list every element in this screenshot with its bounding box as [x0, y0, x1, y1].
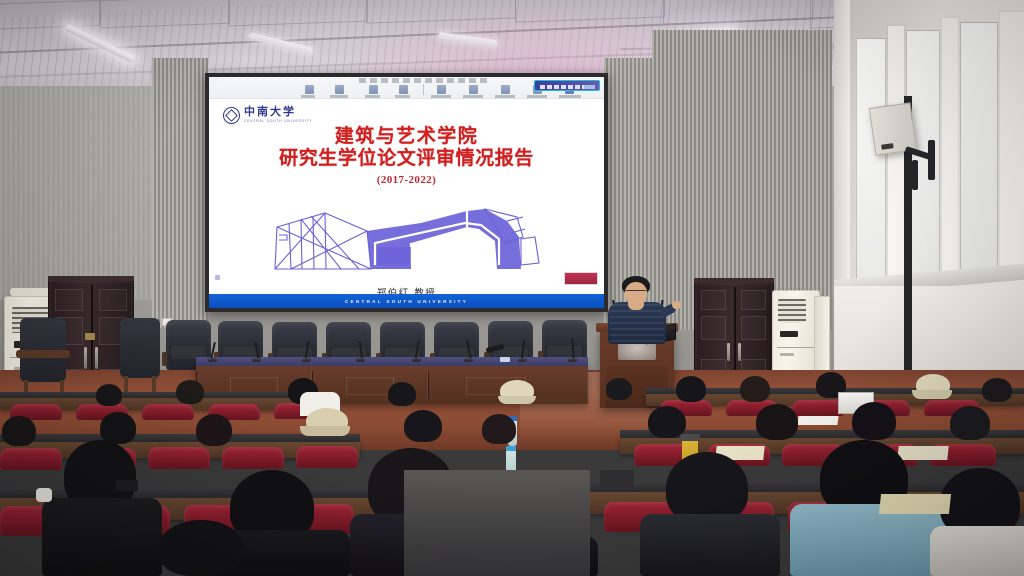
microphone-base — [252, 358, 261, 362]
presenter-hand — [672, 301, 681, 309]
door-center-split — [734, 287, 736, 383]
audience-notebook — [879, 494, 951, 514]
microphone-base — [568, 358, 577, 362]
toolbar-label — [431, 95, 451, 98]
banner-text-placeholder — [540, 85, 584, 89]
audience-person-foreground — [140, 520, 270, 576]
toolbar-label — [301, 95, 315, 98]
insert-icon[interactable] — [369, 85, 378, 94]
audience-head — [404, 410, 442, 442]
person-torso-light-blue — [790, 504, 950, 576]
cup-lid — [680, 434, 700, 441]
door-header-left — [48, 276, 134, 281]
desk-surface — [0, 392, 330, 398]
desk-paper — [500, 357, 510, 362]
window-mullion — [888, 26, 904, 288]
panel-table-ornament — [346, 377, 394, 395]
align-icon[interactable] — [437, 85, 446, 94]
powerpoint-toolbar[interactable] — [209, 77, 604, 99]
audience-head — [96, 384, 122, 406]
transition-icon[interactable] — [501, 85, 510, 94]
audience-seat — [296, 446, 358, 468]
window-mullion — [1000, 12, 1024, 274]
logo-chinese-name: 中南大学 — [244, 107, 312, 118]
door-panel — [741, 290, 766, 310]
aisle-shadow — [404, 470, 590, 576]
microphone-base — [302, 358, 311, 362]
door-handle[interactable] — [738, 343, 741, 361]
right-wall — [834, 0, 1024, 420]
shape-icon[interactable] — [399, 85, 408, 94]
architecture-building-illustration — [271, 207, 543, 275]
lecture-hall-scene: 中南大学 CENTRAL SOUTH UNIVERSITY 建筑与艺术学院 研究… — [0, 0, 1024, 576]
ac-display-panel — [780, 331, 798, 337]
paragraph-icon[interactable] — [335, 85, 344, 94]
cap-brim — [300, 426, 350, 436]
window-mullion — [942, 18, 958, 280]
font-icon[interactable] — [305, 85, 314, 94]
microphone-base — [412, 358, 421, 362]
picture-icon[interactable] — [469, 85, 478, 94]
slide-title-block: 建筑与艺术学院 研究生学位论文评审情况报告 (2017-2022) — [209, 125, 604, 186]
door-panel — [701, 290, 726, 310]
audience-head — [756, 404, 798, 440]
slide-date-range: (2017-2022) — [209, 174, 604, 186]
audience-seat — [142, 404, 194, 420]
slide-title-line1: 建筑与艺术学院 — [209, 125, 604, 147]
presenter-glasses — [626, 290, 646, 294]
projected-slide: 中南大学 CENTRAL SOUTH UNIVERSITY 建筑与艺术学院 研究… — [209, 77, 604, 308]
chair-arm — [162, 352, 167, 366]
door-handle[interactable] — [727, 343, 730, 361]
speaker-bracket-stem — [912, 160, 918, 190]
window — [960, 22, 998, 272]
audience-head — [950, 406, 990, 440]
audience-head — [196, 414, 232, 446]
audience-head — [2, 416, 36, 446]
slide-canvas: 中南大学 CENTRAL SOUTH UNIVERSITY 建筑与艺术学院 研究… — [209, 99, 604, 308]
door-handle[interactable] — [95, 347, 98, 369]
door-header-right — [694, 278, 774, 283]
cap-brim — [912, 390, 952, 399]
acoustic-slat-panel-left — [152, 58, 208, 328]
footer-band-text: CENTRAL SOUTH UNIVERSITY — [345, 299, 468, 304]
toolbar-label — [365, 95, 380, 98]
person-torso-white — [930, 526, 1024, 576]
audience-phone — [116, 480, 138, 491]
logo-english-name: CENTRAL SOUTH UNIVERSITY — [244, 120, 312, 123]
slide-red-accent-box — [564, 272, 598, 285]
door-handle[interactable] — [84, 347, 87, 369]
toolbar-label — [330, 95, 348, 98]
toolbar-label — [559, 95, 581, 98]
audience-head — [676, 376, 706, 402]
toolbar-label — [395, 95, 410, 98]
audience-head — [852, 402, 896, 440]
bottle-cap — [506, 446, 516, 451]
slide-footer-band: CENTRAL SOUTH UNIVERSITY — [209, 294, 604, 308]
door-panel — [99, 289, 127, 311]
audience-head — [388, 382, 416, 406]
toolbar-label — [527, 95, 547, 98]
ceiling-tile — [0, 0, 100, 30]
toolbar-separator — [423, 84, 424, 95]
banner-action-placeholder — [583, 85, 595, 89]
desk-small-item — [36, 488, 52, 502]
audience-head — [176, 380, 204, 404]
audience-notebook — [797, 416, 838, 425]
chair-armrest — [16, 350, 70, 358]
ac-brand-label — [780, 353, 794, 356]
microphone-base — [208, 358, 217, 362]
university-logo: 中南大学 CENTRAL SOUTH UNIVERSITY — [223, 107, 312, 124]
audience-person-foreground — [640, 452, 780, 576]
csu-emblem-icon — [223, 107, 240, 124]
door-panel — [55, 289, 83, 311]
ceiling-tile — [100, 0, 230, 28]
toolbar-label — [495, 95, 515, 98]
projection-screen: 中南大学 CENTRAL SOUTH UNIVERSITY 建筑与艺术学院 研究… — [205, 73, 608, 312]
audience-head — [606, 378, 632, 400]
presenter-collar-neck — [628, 302, 644, 310]
speaker-bracket-post — [928, 140, 935, 180]
microphone-base — [518, 358, 527, 362]
side-chair — [120, 318, 160, 378]
microphone-base — [356, 358, 365, 362]
microphone-base — [464, 358, 473, 362]
cap-brim — [498, 396, 536, 404]
membership-banner-button[interactable] — [534, 80, 600, 91]
audience-head — [482, 414, 516, 444]
audience-head — [982, 378, 1012, 402]
ac-vent — [778, 299, 806, 323]
desk-small-item — [600, 470, 634, 488]
window — [856, 38, 886, 288]
audience-person-foreground — [930, 468, 1024, 576]
door-lock-plate — [85, 333, 95, 340]
audience-seat — [792, 400, 844, 416]
ac-seam — [777, 347, 817, 348]
door-panel — [701, 316, 726, 340]
slide-title-line2: 研究生学位论文评审情况报告 — [209, 147, 604, 170]
slide-corner-marker — [215, 275, 220, 280]
person-hair — [158, 520, 244, 576]
audience-head — [740, 376, 770, 402]
presenter-person — [600, 276, 678, 342]
quick-access-toolbar[interactable] — [359, 78, 489, 83]
audience-seat — [222, 447, 284, 469]
door-panel — [741, 316, 766, 340]
person-torso — [640, 514, 780, 576]
toolbar-label — [463, 95, 483, 98]
building-window-block — [377, 247, 411, 265]
